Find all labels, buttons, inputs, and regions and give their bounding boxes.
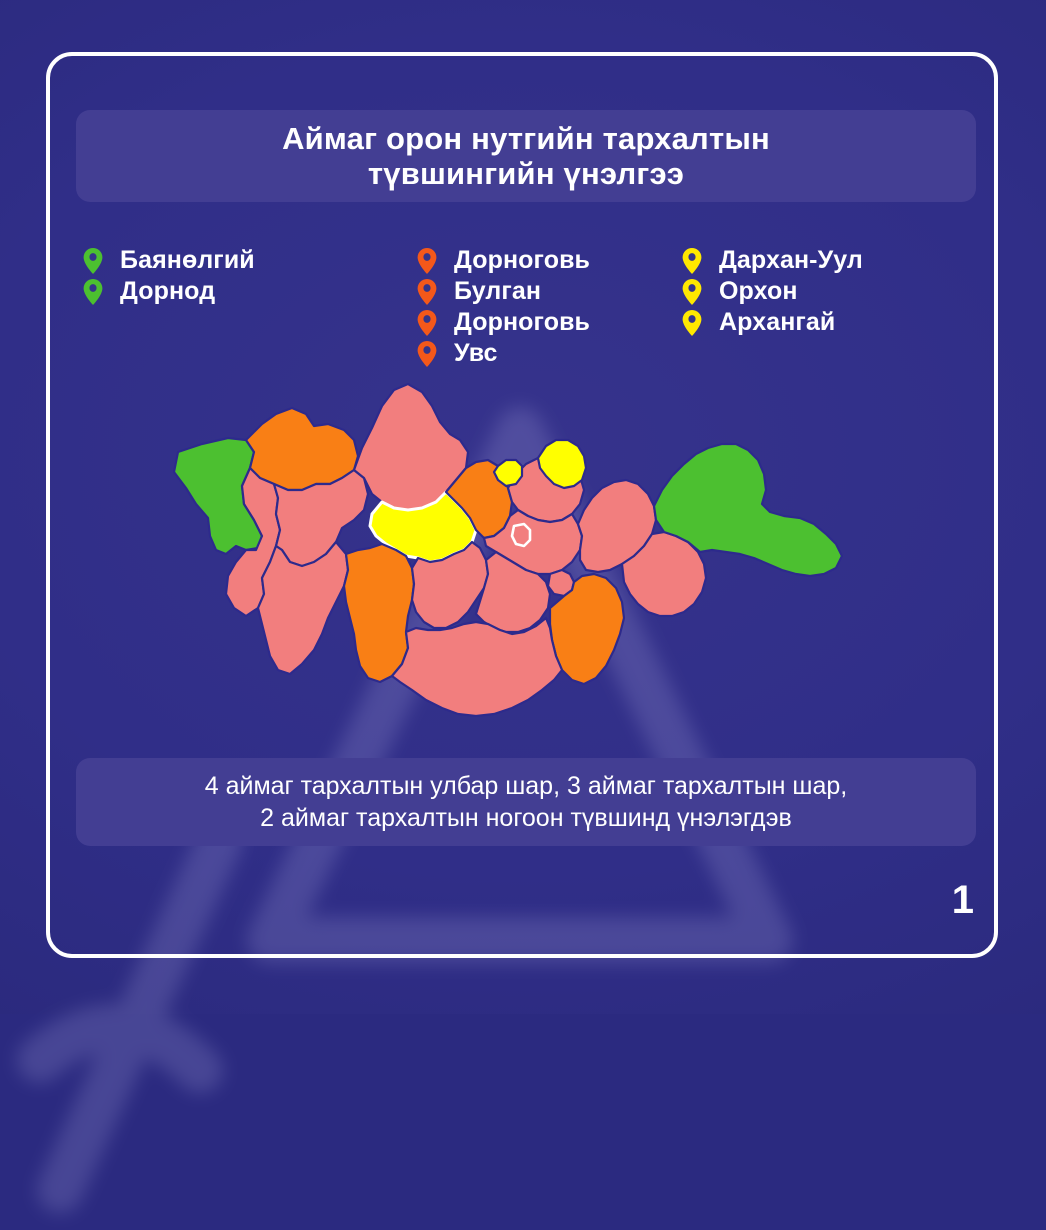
map-pin-icon — [82, 278, 104, 306]
map-region-umnugovi[interactable] — [392, 618, 562, 716]
legend-item-label: Дорноговь — [454, 308, 590, 337]
legend-column-yellow: Дархан-Уул Орхон Архангай — [681, 246, 863, 339]
legend-item[interactable]: Дорнод — [82, 277, 255, 306]
mongolia-choropleth-map — [150, 378, 950, 740]
legend-item-label: Архангай — [719, 308, 835, 337]
legend-item[interactable]: Архангай — [681, 308, 863, 337]
map-pin-icon — [82, 247, 104, 275]
map-pin-icon — [681, 278, 703, 306]
legend-item[interactable]: Дархан-Уул — [681, 246, 863, 275]
legend-column-orange: Дорноговь Булган Дорноговь — [416, 246, 590, 370]
summary-caption: 4 аймаг тархалтын улбар шар, 3 аймаг тар… — [205, 770, 848, 834]
page-title: Аймаг орон нутгийн тархалтын түвшингийн … — [282, 121, 770, 191]
page-number: 1 — [952, 880, 974, 920]
legend: Баянөлгий Дорнод Дорноговь — [76, 246, 976, 376]
legend-item-label: Увс — [454, 339, 498, 368]
legend-item-label: Дорноговь — [454, 246, 590, 275]
map-pin-icon — [416, 247, 438, 275]
map-pin-icon — [681, 309, 703, 337]
legend-item[interactable]: Увс — [416, 339, 590, 368]
legend-item-label: Дорнод — [120, 277, 215, 306]
legend-item[interactable]: Дорноговь — [416, 246, 590, 275]
slide-content: Аймаг орон нутгийн тархалтын түвшингийн … — [0, 0, 1046, 1014]
legend-item-label: Булган — [454, 277, 541, 306]
legend-item-label: Орхон — [719, 277, 798, 306]
map-pin-icon — [681, 247, 703, 275]
map-pin-icon — [416, 309, 438, 337]
legend-item-label: Дархан-Уул — [719, 246, 863, 275]
legend-item[interactable]: Дорноговь — [416, 308, 590, 337]
caption-bar: 4 аймаг тархалтын улбар шар, 3 аймаг тар… — [76, 758, 976, 846]
title-bar: Аймаг орон нутгийн тархалтын түвшингийн … — [76, 110, 976, 202]
legend-item-label: Баянөлгий — [120, 246, 255, 275]
map-region-ulaanbaatar[interactable] — [512, 524, 530, 546]
legend-item[interactable]: Баянөлгий — [82, 246, 255, 275]
legend-item[interactable]: Орхон — [681, 277, 863, 306]
legend-item[interactable]: Булган — [416, 277, 590, 306]
legend-column-green: Баянөлгий Дорнод — [82, 246, 255, 308]
map-pin-icon — [416, 340, 438, 368]
map-pin-icon — [416, 278, 438, 306]
